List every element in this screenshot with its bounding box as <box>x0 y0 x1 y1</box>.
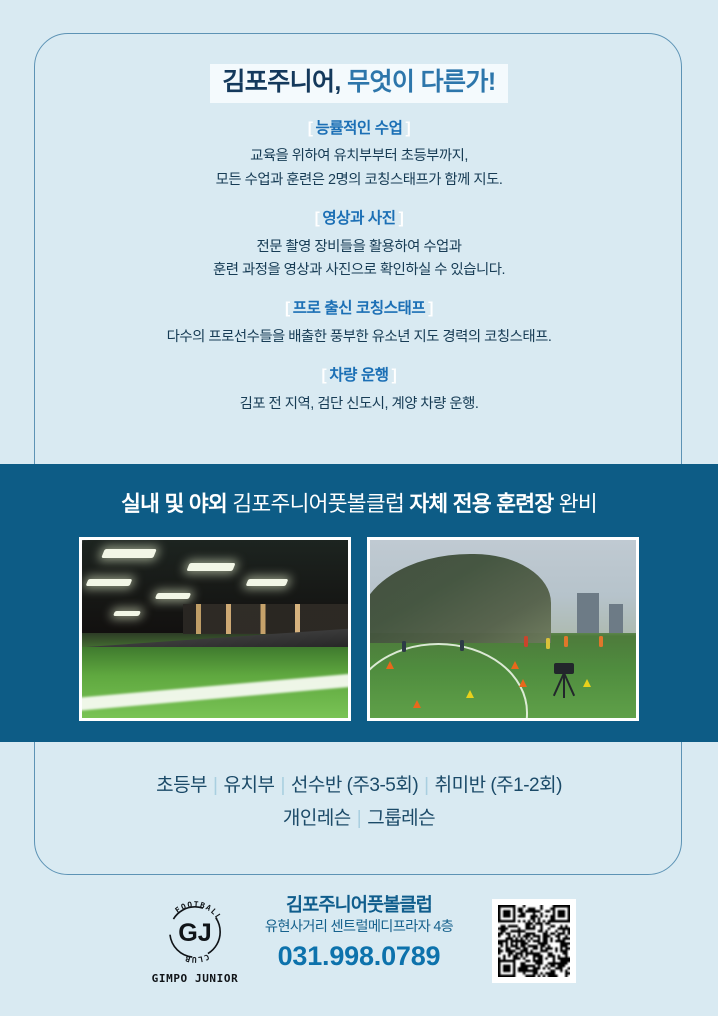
training-cone-icon <box>519 679 527 687</box>
feature-title-text: 프로 출신 코칭스태프 <box>293 300 426 317</box>
ceiling-lamp-icon <box>101 549 157 558</box>
contact-address: 유현사거리 센트럴메디프라자 4층 <box>246 917 472 937</box>
bracket-open-icon: [ <box>319 367 330 384</box>
qr-code-image <box>498 905 570 977</box>
ceiling-lamp-icon <box>187 563 236 571</box>
feature-title-text: 능률적인 수업 <box>315 120 402 137</box>
background-building <box>577 593 599 632</box>
bracket-close-icon: ] <box>389 367 400 384</box>
program-item-hobby-class: 취미반 (주1-2회) <box>435 775 562 796</box>
program-item-private-lesson: 개인레슨 <box>283 808 351 829</box>
poster-root: 김포주니어, 무엇이 다른가! [능률적인 수업] 교육을 위하여 유치부부터 … <box>0 0 718 1016</box>
feature-item: [프로 출신 코칭스태프] 다수의 프로선수들을 배출한 풍부한 유소년 지도 … <box>0 298 718 349</box>
outdoor-training-field-photo <box>367 537 639 721</box>
training-cone-icon <box>466 690 474 698</box>
bracket-open-icon: [ <box>282 300 293 317</box>
photo-gallery <box>0 537 718 721</box>
bracket-close-icon: ] <box>396 210 407 227</box>
field-center-circle-line <box>367 643 528 721</box>
program-item-kindergarten: 유치부 <box>223 775 274 796</box>
player-figure <box>564 636 568 647</box>
feature-item: [능률적인 수업] 교육을 위하여 유치부부터 초등부까지, 모든 수업과 훈련… <box>0 118 718 192</box>
program-separator: | <box>351 808 367 829</box>
gj-football-club-logo-icon: FOOTBALL CLUB GJ <box>158 895 232 969</box>
feature-body-line: 다수의 프로선수들을 배출한 풍부한 유소년 지도 경력의 코칭스태프. <box>0 326 718 349</box>
feature-title-text: 영상과 사진 <box>322 210 395 227</box>
bracket-close-icon: ] <box>425 300 436 317</box>
program-item-elementary: 초등부 <box>156 775 207 796</box>
ceiling-lamp-icon <box>155 593 191 599</box>
club-logo: FOOTBALL CLUB GJ GIMPO JUNIOR <box>137 895 253 985</box>
logo-club-name: GIMPO JUNIOR <box>137 972 253 985</box>
ceiling-lamp-icon <box>245 579 288 586</box>
headline-question: 무엇이 다른가! <box>347 68 495 96</box>
training-cone-icon <box>413 700 421 708</box>
page-title: 김포주니어, 무엇이 다른가! <box>210 64 507 103</box>
logo-ring-graphic: FOOTBALL CLUB GJ <box>158 895 232 969</box>
headline-container: 김포주니어, 무엇이 다른가! <box>0 64 718 103</box>
feature-item: [영상과 사진] 전문 촬영 장비들을 활용하여 수업과 훈련 과정을 영상과 … <box>0 208 718 282</box>
training-cone-icon <box>386 661 394 669</box>
headline-brand: 김포주니어, <box>222 68 340 96</box>
indoor-training-facility-photo <box>79 537 351 721</box>
feature-body-line: 훈련 과정을 영상과 사진으로 확인하실 수 있습니다. <box>0 259 718 282</box>
program-separator: | <box>418 775 434 796</box>
feature-body-line: 모든 수업과 훈련은 2명의 코칭스태프가 함께 지도. <box>0 169 718 192</box>
training-facility-banner: 실내 및 야외 김포주니어풋볼클럽 자체 전용 훈련장 완비 <box>0 464 718 742</box>
contact-phone-number: 031.998.0789 <box>246 941 472 972</box>
player-figure <box>599 636 603 647</box>
qr-code[interactable] <box>492 899 576 983</box>
player-figure <box>402 641 406 652</box>
svg-text:GJ: GJ <box>178 919 212 947</box>
banner-title-equipped: 완비 <box>559 492 597 516</box>
banner-title-indoor-outdoor: 실내 및 야외 <box>121 492 227 516</box>
ceiling-lamp-icon <box>86 579 133 586</box>
player-figure <box>460 640 464 651</box>
training-cone-icon <box>511 661 519 669</box>
program-row-1: 초등부|유치부|선수반 (주3-5회)|취미반 (주1-2회) <box>0 770 718 803</box>
program-row-2: 개인레슨|그룹레슨 <box>0 803 718 836</box>
background-building <box>609 604 623 632</box>
camera-tripod-icon <box>551 663 577 697</box>
banner-title-facility: 자체 전용 훈련장 <box>409 492 553 516</box>
program-separator: | <box>207 775 223 796</box>
footer: FOOTBALL CLUB GJ GIMPO JUNIOR 김포주니어풋볼클럽 … <box>0 885 718 1005</box>
feature-title: [프로 출신 코칭스태프] <box>0 298 718 320</box>
feature-title: [능률적인 수업] <box>0 118 718 140</box>
player-figure <box>546 638 550 649</box>
bracket-close-icon: ] <box>403 120 414 137</box>
contact-club-name: 김포주니어풋볼클럽 <box>246 893 472 917</box>
bracket-open-icon: [ <box>312 210 323 227</box>
program-item-group-lesson: 그룹레슨 <box>367 808 435 829</box>
banner-title-club: 김포주니어풋볼클럽 <box>232 492 404 516</box>
svg-text:CLUB: CLUB <box>183 952 210 964</box>
ceiling-lamp-icon <box>113 611 141 616</box>
feature-title: [영상과 사진] <box>0 208 718 230</box>
player-figure <box>524 636 528 647</box>
feature-body-line: 교육을 위하여 유치부부터 초등부까지, <box>0 145 718 168</box>
feature-item: [차량 운행] 김포 전 지역, 검단 신도시, 계양 차량 운행. <box>0 365 718 416</box>
feature-body-line: 김포 전 지역, 검단 신도시, 계양 차량 운행. <box>0 393 718 416</box>
contact-info: 김포주니어풋볼클럽 유현사거리 센트럴메디프라자 4층 031.998.0789 <box>246 893 472 972</box>
program-item-athlete-class: 선수반 (주3-5회) <box>291 775 418 796</box>
bracket-open-icon: [ <box>305 120 316 137</box>
feature-title: [차량 운행] <box>0 365 718 387</box>
banner-title: 실내 및 야외 김포주니어풋볼클럽 자체 전용 훈련장 완비 <box>0 464 718 518</box>
program-list: 초등부|유치부|선수반 (주3-5회)|취미반 (주1-2회) 개인레슨|그룹레… <box>0 770 718 835</box>
feature-body-line: 전문 촬영 장비들을 활용하여 수업과 <box>0 236 718 259</box>
training-cone-icon <box>583 679 591 687</box>
feature-title-text: 차량 운행 <box>329 367 388 384</box>
program-separator: | <box>274 775 290 796</box>
feature-list: [능률적인 수업] 교육을 위하여 유치부부터 초등부까지, 모든 수업과 훈련… <box>0 118 718 416</box>
